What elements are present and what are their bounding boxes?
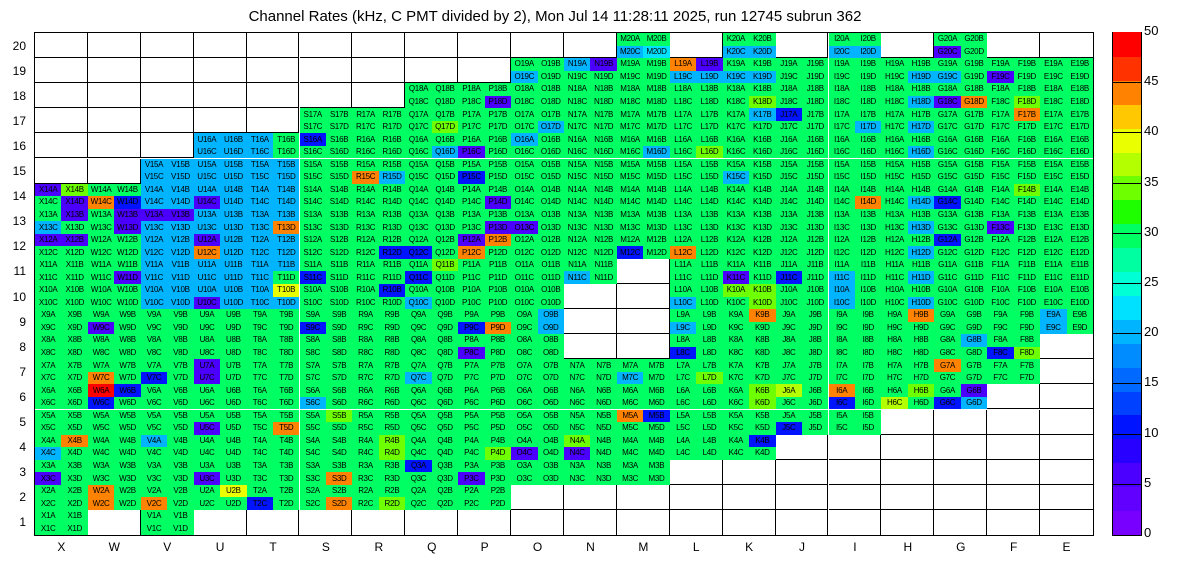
grid-cell-K12: K12AK12BK12CK12D xyxy=(723,234,776,259)
channel-L9D: L9D xyxy=(696,322,722,335)
grid-cell-T7: T7AT7BT7CT7D xyxy=(247,359,300,384)
channel-H16A: H16A xyxy=(881,133,907,146)
channel-H14D: H14D xyxy=(908,196,934,209)
channel-X7A: X7A xyxy=(35,359,61,372)
channel-W3A: W3A xyxy=(88,460,114,473)
grid-cell-O4: O4AO4BO4CO4D xyxy=(511,435,564,460)
channel-P2A: P2A xyxy=(458,485,484,498)
channel-T10A: T10A xyxy=(247,284,273,297)
channel-S16C: S16C xyxy=(300,146,326,159)
channel-I10C: I10C xyxy=(829,297,855,310)
grid-cell-Q17: Q17AQ17BQ17CQ17D xyxy=(405,108,458,133)
channel-W11D: W11D xyxy=(114,271,140,284)
channel-R15A: R15A xyxy=(352,159,378,172)
grid-cell-X12: X12AX12BX12CX12D xyxy=(35,234,88,259)
channel-K8C: K8C xyxy=(723,347,749,360)
channel-I14D: I14D xyxy=(855,196,881,209)
grid-cell-E2 xyxy=(1040,485,1093,510)
channel-V15A: V15A xyxy=(141,159,167,172)
channel-O8D: O8D xyxy=(538,347,564,360)
grid-cell-H15: H15AH15BH15CH15D xyxy=(881,159,934,184)
channel-I12B: I12B xyxy=(855,234,881,247)
channel-F14A: F14A xyxy=(987,184,1013,197)
channel-F18D: F18D xyxy=(1014,96,1040,109)
grid-cell-T4: T4AT4BT4CT4D xyxy=(247,435,300,460)
channel-L17C: L17C xyxy=(670,121,696,134)
grid-cell-J1 xyxy=(776,510,829,535)
grid-cell-E1 xyxy=(1040,510,1093,535)
grid-cell-F15: F15AF15BF15CF15D xyxy=(987,159,1040,184)
channel-F17D: F17D xyxy=(1014,121,1040,134)
channel-W11A: W11A xyxy=(88,259,114,272)
channel-N3C: N3C xyxy=(564,472,590,485)
channel-F12C: F12C xyxy=(987,246,1013,259)
channel-L4C: L4C xyxy=(670,447,696,460)
grid-cell-O8: O8AO8BO8CO8D xyxy=(511,334,564,359)
channel-G20B: G20B xyxy=(961,33,987,46)
grid-cell-K2 xyxy=(723,485,776,510)
grid-cell-X2: X2AX2BX2CX2D xyxy=(35,485,88,510)
grid-cell-M16: M16AM16BM16CM16D xyxy=(617,133,670,158)
color-bar-tick-5: 5 xyxy=(1144,475,1151,490)
channel-P15B: P15B xyxy=(485,159,511,172)
grid-cell-L16: L16AL16BL16CL16D xyxy=(670,133,723,158)
color-bar-tick-line-40 xyxy=(1112,132,1142,133)
grid-cell-N5: N5AN5BN5CN5D xyxy=(564,410,617,435)
grid-cell-X18 xyxy=(35,83,88,108)
channel-R15C: R15C xyxy=(352,171,378,184)
grid-cell-E20 xyxy=(1040,33,1093,58)
grid-cell-I18: I18AI18BI18CI18D xyxy=(829,83,882,108)
channel-K13C: K13C xyxy=(723,221,749,234)
channel-R10A: R10A xyxy=(352,284,378,297)
channel-X9C: X9C xyxy=(35,322,61,335)
channel-J5D: J5D xyxy=(802,422,828,435)
channel-H11D: H11D xyxy=(908,271,934,284)
channel-T12C: T12C xyxy=(247,246,273,259)
channel-M3C: M3C xyxy=(617,472,643,485)
grid-cell-K3 xyxy=(723,460,776,485)
grid-cell-R6: R6AR6BR6CR6D xyxy=(352,384,405,409)
channel-T11D: T11D xyxy=(273,271,299,284)
channel-L13A: L13A xyxy=(670,209,696,222)
grid-cell-W5: W5AW5BW5CW5D xyxy=(88,410,141,435)
channel-L7B: L7B xyxy=(696,359,722,372)
channel-K19B: K19B xyxy=(749,58,775,71)
grid-cell-E12: E12AE12BE12CE12D xyxy=(1040,234,1093,259)
channel-Q7B: Q7B xyxy=(432,359,458,372)
channel-W3B: W3B xyxy=(114,460,140,473)
channel-L18B: L18B xyxy=(696,83,722,96)
grid-cell-G9: G9AG9BG9CG9D xyxy=(934,309,987,334)
channel-N18B: N18B xyxy=(590,83,616,96)
channel-W5B: W5B xyxy=(114,410,140,423)
channel-M5C: M5C xyxy=(617,422,643,435)
channel-S8D: S8D xyxy=(326,347,352,360)
channel-R11C: R11C xyxy=(352,271,378,284)
channel-G12B: G12B xyxy=(961,234,987,247)
channel-I8C: I8C xyxy=(829,347,855,360)
channel-L19A: L19A xyxy=(670,58,696,71)
channel-V14D: V14D xyxy=(167,196,193,209)
channel-N18D: N18D xyxy=(590,96,616,109)
channel-N17B: N17B xyxy=(590,108,616,121)
grid-cell-F6 xyxy=(987,384,1040,409)
channel-F19A: F19A xyxy=(987,58,1013,71)
channel-S10C: S10C xyxy=(300,297,326,310)
channel-J11A: J11A xyxy=(776,259,802,272)
channel-S7D: S7D xyxy=(326,372,352,385)
channel-O6D: O6D xyxy=(538,397,564,410)
grid-cell-J7: J7AJ7BJ7CJ7D xyxy=(776,359,829,384)
grid-cell-V10: V10AV10BV10CV10D xyxy=(141,284,194,309)
grid-cell-T5: T5AT5BT5CT5D xyxy=(247,410,300,435)
channel-Q15D: Q15D xyxy=(432,171,458,184)
channel-T14D: T14D xyxy=(273,196,299,209)
channel-W5C: W5C xyxy=(88,422,114,435)
grid-cell-S13: S13AS13BS13CS13D xyxy=(300,209,353,234)
grid-cell-W6: W6AW6BW6CW6D xyxy=(88,384,141,409)
channel-O12D: O12D xyxy=(538,246,564,259)
channel-R6A: R6A xyxy=(352,384,378,397)
channel-L7C: L7C xyxy=(670,372,696,385)
channel-K17D: K17D xyxy=(749,121,775,134)
grid-cell-N8 xyxy=(564,334,617,359)
color-bar-tick-line-5 xyxy=(1112,484,1142,485)
channel-O17A: O17A xyxy=(511,108,537,121)
grid-cell-M7: M7AM7BM7CM7D xyxy=(617,359,670,384)
channel-M14C: M14C xyxy=(617,196,643,209)
grid-cell-T14: T14AT14BT14CT14D xyxy=(247,184,300,209)
grid-cell-P3: P3AP3BP3CP3D xyxy=(458,460,511,485)
grid-cell-O12: O12AO12BO12CO12D xyxy=(511,234,564,259)
grid-cell-H7: H7AH7BH7CH7D xyxy=(881,359,934,384)
channel-P14C: P14C xyxy=(458,196,484,209)
grid-cell-M8 xyxy=(617,334,670,359)
grid-cell-I9: I9AI9BI9CI9D xyxy=(829,309,882,334)
grid-cell-I12: I12AI12BI12CI12D xyxy=(829,234,882,259)
channel-L19D: L19D xyxy=(696,71,722,84)
channel-R14B: R14B xyxy=(379,184,405,197)
channel-H11C: H11C xyxy=(881,271,907,284)
channel-P13D: P13D xyxy=(485,221,511,234)
channel-J14C: J14C xyxy=(776,196,802,209)
channel-N6B: N6B xyxy=(590,384,616,397)
page-title: Channel Rates (kHz, C PMT divided by 2),… xyxy=(0,8,1110,25)
channel-J13C: J13C xyxy=(776,221,802,234)
channel-M13D: M13D xyxy=(643,221,669,234)
grid-cell-U3: U3AU3BU3CU3D xyxy=(194,460,247,485)
grid-cell-V9: V9AV9BV9CV9D xyxy=(141,309,194,334)
grid-cell-R3: R3AR3BR3CR3D xyxy=(352,460,405,485)
channel-E13B: E13B xyxy=(1067,209,1093,222)
channel-J5B: J5B xyxy=(802,410,828,423)
channel-R8A: R8A xyxy=(352,334,378,347)
channel-H9C: H9C xyxy=(881,322,907,335)
channel-F7C: F7C xyxy=(987,372,1013,385)
grid-cell-H20 xyxy=(881,33,934,58)
channel-V11A: V11A xyxy=(141,259,167,272)
grid-cell-R11: R11AR11BR11CR11D xyxy=(352,259,405,284)
grid-cell-U17 xyxy=(194,108,247,133)
channel-E16C: E16C xyxy=(1040,146,1066,159)
channel-P7B: P7B xyxy=(485,359,511,372)
color-bar-tick-line-25 xyxy=(1112,283,1142,284)
channel-N11D: N11D xyxy=(590,271,616,284)
grid-cell-T2: T2AT2BT2CT2D xyxy=(247,485,300,510)
grid-cell-L10: L10AL10BL10CL10D xyxy=(670,284,723,309)
channel-U8B: U8B xyxy=(220,334,246,347)
channel-H10B: H10B xyxy=(908,284,934,297)
grid-cell-I7: I7AI7BI7CI7D xyxy=(829,359,882,384)
channel-H12B: H12B xyxy=(908,234,934,247)
channel-K10D: K10D xyxy=(749,297,775,310)
channel-E13C: E13C xyxy=(1040,221,1066,234)
channel-M19A: M19A xyxy=(617,58,643,71)
channel-S12A: S12A xyxy=(300,234,326,247)
channel-H17B: H17B xyxy=(908,108,934,121)
channel-T4C: T4C xyxy=(247,447,273,460)
grid-cell-N4: N4AN4BN4CN4D xyxy=(564,435,617,460)
channel-K20D: K20D xyxy=(749,46,775,59)
channel-I9C: I9C xyxy=(829,322,855,335)
channel-L18A: L18A xyxy=(670,83,696,96)
channel-R15B: R15B xyxy=(379,159,405,172)
channel-Q17D: Q17D xyxy=(432,121,458,134)
channel-S4D: S4D xyxy=(326,447,352,460)
channel-T11A: T11A xyxy=(247,259,273,272)
grid-cell-G8: G8AG8BG8CG8D xyxy=(934,334,987,359)
grid-cell-K18: K18AK18BK18CK18D xyxy=(723,83,776,108)
channel-W2B: W2B xyxy=(114,485,140,498)
channel-N6A: N6A xyxy=(564,384,590,397)
channel-I9B: I9B xyxy=(855,309,881,322)
channel-G6B: G6B xyxy=(961,384,987,397)
x-tick-H: H xyxy=(888,540,928,554)
grid-cell-Q14: Q14AQ14BQ14CQ14D xyxy=(405,184,458,209)
channel-M15A: M15A xyxy=(617,159,643,172)
channel-U16D: U16D xyxy=(220,146,246,159)
channel-K14A: K14A xyxy=(723,184,749,197)
grid-cell-T18 xyxy=(247,83,300,108)
channel-Q10B: Q10B xyxy=(432,284,458,297)
channel-R16A: R16A xyxy=(352,133,378,146)
grid-cell-E9: E9AE9BE9CE9D xyxy=(1040,309,1093,334)
channel-E16A: E16A xyxy=(1040,133,1066,146)
channel-R5A: R5A xyxy=(352,410,378,423)
grid-cell-P19 xyxy=(458,58,511,83)
channel-U14D: U14D xyxy=(220,196,246,209)
grid-cell-T17 xyxy=(247,108,300,133)
channel-R17B: R17B xyxy=(379,108,405,121)
channel-N12C: N12C xyxy=(564,246,590,259)
channel-S13B: S13B xyxy=(326,209,352,222)
grid-cell-F2 xyxy=(987,485,1040,510)
channel-Q11B: Q11B xyxy=(432,259,458,272)
channel-R5B: R5B xyxy=(379,410,405,423)
channel-H13B: H13B xyxy=(908,209,934,222)
channel-J19C: J19C xyxy=(776,71,802,84)
grid-cell-I20: I20AI20BI20CI20D xyxy=(829,33,882,58)
channel-M13B: M13B xyxy=(643,209,669,222)
channel-G15B: G15B xyxy=(961,159,987,172)
x-tick-P: P xyxy=(465,540,505,554)
channel-R4C: R4C xyxy=(352,447,378,460)
channel-S17D: S17D xyxy=(326,121,352,134)
channel-K7D: K7D xyxy=(749,372,775,385)
grid-cell-Q19 xyxy=(405,58,458,83)
channel-I19D: I19D xyxy=(855,71,881,84)
grid-cell-H17: H17AH17BH17CH17D xyxy=(881,108,934,133)
grid-cell-H11: H11AH11BH11CH11D xyxy=(881,259,934,284)
channel-U3B: U3B xyxy=(220,460,246,473)
channel-M14D: M14D xyxy=(643,196,669,209)
channel-O11C: O11C xyxy=(511,271,537,284)
channel-Q4C: Q4C xyxy=(405,447,431,460)
grid-cell-J17: J17AJ17BJ17CJ17D xyxy=(776,108,829,133)
channel-R3D: R3D xyxy=(379,472,405,485)
channel-G9B: G9B xyxy=(961,309,987,322)
grid-cell-P14: P14AP14BP14CP14D xyxy=(458,184,511,209)
channel-G18A: G18A xyxy=(934,83,960,96)
channel-K18C: K18C xyxy=(723,96,749,109)
channel-E12A: E12A xyxy=(1040,234,1066,247)
grid-cell-N1 xyxy=(564,510,617,535)
channel-N12B: N12B xyxy=(590,234,616,247)
channel-S9A: S9A xyxy=(300,309,326,322)
channel-W8D: W8D xyxy=(114,347,140,360)
channel-O17B: O17B xyxy=(538,108,564,121)
channel-I10B: I10B xyxy=(855,284,881,297)
grid-cell-M2 xyxy=(617,485,670,510)
channel-T9A: T9A xyxy=(247,309,273,322)
channel-J10D: J10D xyxy=(802,297,828,310)
channel-O17C: O17C xyxy=(511,121,537,134)
channel-N5D: N5D xyxy=(590,422,616,435)
channel-S2A: S2A xyxy=(300,485,326,498)
grid-cell-N11: N11AN11BN11CN11D xyxy=(564,259,617,284)
channel-U15A: U15A xyxy=(194,159,220,172)
channel-K19D: K19D xyxy=(749,71,775,84)
channel-G9C: G9C xyxy=(934,322,960,335)
channel-H6B: H6B xyxy=(908,384,934,397)
channel-H6C: H6C xyxy=(881,397,907,410)
channel-Q10C: Q10C xyxy=(405,297,431,310)
channel-N17D: N17D xyxy=(590,121,616,134)
grid-cell-J12: J12AJ12BJ12CJ12D xyxy=(776,234,829,259)
channel-P9B: P9B xyxy=(485,309,511,322)
channel-W4A: W4A xyxy=(88,435,114,448)
channel-V3D: V3D xyxy=(167,472,193,485)
channel-Q12B: Q12B xyxy=(432,234,458,247)
grid-cell-S17: S17AS17BS17CS17D xyxy=(300,108,353,133)
channel-G17C: G17C xyxy=(934,121,960,134)
channel-W14B: W14B xyxy=(114,184,140,197)
channel-R6C: R6C xyxy=(352,397,378,410)
channel-E15C: E15C xyxy=(1040,171,1066,184)
channel-F16D: F16D xyxy=(1014,146,1040,159)
channel-M18B: M18B xyxy=(643,83,669,96)
channel-G15D: G15D xyxy=(961,171,987,184)
channel-R13D: R13D xyxy=(379,221,405,234)
grid-cell-N3: N3AN3BN3CN3D xyxy=(564,460,617,485)
channel-Q4B: Q4B xyxy=(432,435,458,448)
channel-X10B: X10B xyxy=(61,284,87,297)
channel-M20A: M20A xyxy=(617,33,643,46)
channel-N17A: N17A xyxy=(564,108,590,121)
grid-cell-I8: I8AI8BI8CI8D xyxy=(829,334,882,359)
channel-I15B: I15B xyxy=(855,159,881,172)
channel-V3C: V3C xyxy=(141,472,167,485)
channel-O5C: O5C xyxy=(511,422,537,435)
grid-cell-N18: N18AN18BN18CN18D xyxy=(564,83,617,108)
channel-U2C: U2C xyxy=(194,497,220,510)
channel-K16A: K16A xyxy=(723,133,749,146)
x-tick-S: S xyxy=(306,540,346,554)
grid-cell-G18: G18AG18BG18CG18D xyxy=(934,83,987,108)
channel-L5D: L5D xyxy=(696,422,722,435)
grid-cell-M10 xyxy=(617,284,670,309)
channel-V13B: V13B xyxy=(167,209,193,222)
channel-I20D: I20D xyxy=(855,46,881,59)
channel-G17D: G17D xyxy=(961,121,987,134)
channel-H12D: H12D xyxy=(908,246,934,259)
channel-P9A: P9A xyxy=(458,309,484,322)
channel-P4B: P4B xyxy=(485,435,511,448)
grid-cell-S3: S3AS3BS3CS3D xyxy=(300,460,353,485)
channel-X4A: X4A xyxy=(35,435,61,448)
grid-cell-Q5: Q5AQ5BQ5CQ5D xyxy=(405,410,458,435)
channel-I7A: I7A xyxy=(829,359,855,372)
channel-W8B: W8B xyxy=(114,334,140,347)
grid-cell-S8: S8AS8BS8CS8D xyxy=(300,334,353,359)
channel-P16B: P16B xyxy=(485,133,511,146)
grid-cell-U19 xyxy=(194,58,247,83)
grid-cell-R14: R14AR14BR14CR14D xyxy=(352,184,405,209)
channel-J7D: J7D xyxy=(802,372,828,385)
channel-U10A: U10A xyxy=(194,284,220,297)
channel-S15A: S15A xyxy=(300,159,326,172)
grid-cell-V4: V4AV4BV4CV4D xyxy=(141,435,194,460)
grid-cell-M9 xyxy=(617,309,670,334)
channel-N11C: N11C xyxy=(564,271,590,284)
y-tick-2: 2 xyxy=(0,490,26,504)
grid-cell-H19: H19AH19BH19CH19D xyxy=(881,58,934,83)
channel-T13A: T13A xyxy=(247,209,273,222)
channel-X6B: X6B xyxy=(61,384,87,397)
channel-J9A: J9A xyxy=(776,309,802,322)
channel-P4D: P4D xyxy=(485,447,511,460)
channel-M4C: M4C xyxy=(617,447,643,460)
channel-P14D: P14D xyxy=(485,196,511,209)
channel-N4D: N4D xyxy=(590,447,616,460)
channel-J10C: J10C xyxy=(776,297,802,310)
grid-cell-X6: X6AX6BX6CX6D xyxy=(35,384,88,409)
channel-F7A: F7A xyxy=(987,359,1013,372)
channel-W4B: W4B xyxy=(114,435,140,448)
channel-M16D: M16D xyxy=(643,146,669,159)
channel-J16A: J16A xyxy=(776,133,802,146)
channel-N19A: N19A xyxy=(564,58,590,71)
channel-I19C: I19C xyxy=(829,71,855,84)
channel-H14B: H14B xyxy=(908,184,934,197)
grid-cell-P20 xyxy=(458,33,511,58)
channel-V8C: V8C xyxy=(141,347,167,360)
channel-I15A: I15A xyxy=(829,159,855,172)
channel-N7C: N7C xyxy=(564,372,590,385)
grid-cell-T1 xyxy=(247,510,300,535)
channel-S4B: S4B xyxy=(326,435,352,448)
